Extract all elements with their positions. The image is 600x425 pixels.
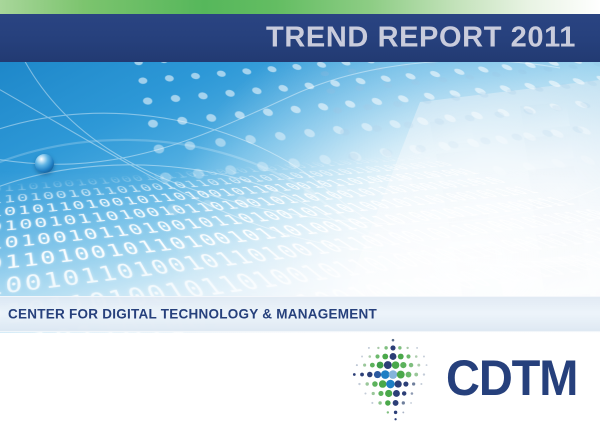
cover-artwork: 0100101011010010100010110100101101001011… <box>0 62 600 333</box>
title-band: TREND REPORT 2011 <box>0 14 600 62</box>
green-gradient-rule <box>0 0 600 14</box>
organization-name: CENTER FOR DIGITAL TECHNOLOGY & MANAGEME… <box>8 307 377 321</box>
cdtm-logo: CDTM <box>350 335 586 421</box>
page-title: TREND REPORT 2011 <box>266 24 576 53</box>
organization-band: CENTER FOR DIGITAL TECHNOLOGY & MANAGEME… <box>0 296 600 332</box>
report-cover: TREND REPORT 2011 <box>0 0 600 425</box>
footer: CDTM <box>0 333 600 425</box>
artwork-haze-overlay <box>0 62 600 333</box>
artwork-sphere <box>35 154 54 173</box>
cdtm-wordmark: CDTM <box>446 353 577 403</box>
cdtm-dot-matrix-icon <box>350 335 436 421</box>
